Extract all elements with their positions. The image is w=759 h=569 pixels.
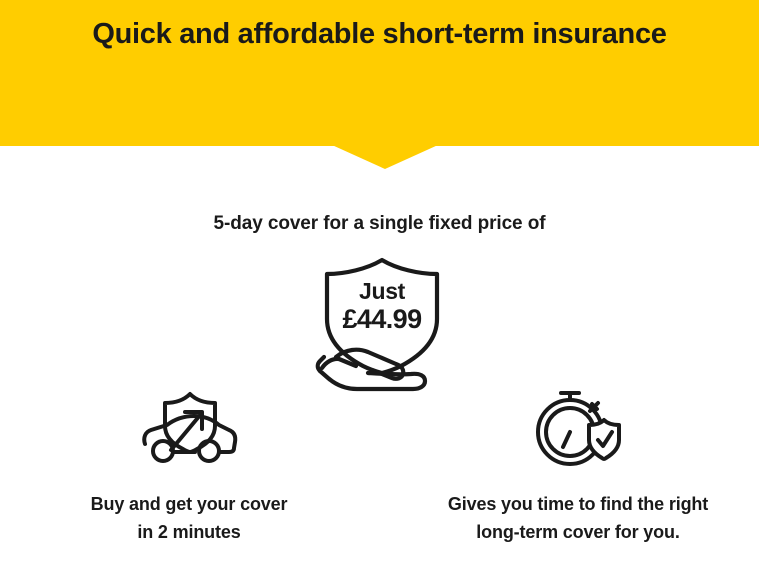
shield-in-hand-icon [312, 256, 452, 392]
benefit-caption: Buy and get your cover in 2 minutes [29, 490, 349, 546]
benefit-caption-line2: in 2 minutes [29, 518, 349, 546]
benefit-caption-line1: Buy and get your cover [29, 490, 349, 518]
benefit-buy-in-2-minutes: Buy and get your cover in 2 minutes [29, 386, 349, 546]
page-title: Temporary car insurance [0, 0, 759, 2]
hero-banner: Temporary car insurance Quick and afford… [0, 0, 759, 146]
hero-subtitle: Quick and affordable short-term insuranc… [0, 16, 759, 52]
benefit-caption-line2: long-term cover for you. [418, 518, 738, 546]
car-with-shield-and-up-arrow-icon [29, 386, 349, 468]
stopwatch-with-shield-check-icon [418, 386, 738, 468]
downward-triangle-notch-icon [332, 145, 438, 169]
benefit-long-term-cover: Gives you time to find the right long-te… [418, 386, 738, 546]
benefit-caption: Gives you time to find the right long-te… [418, 490, 738, 546]
benefit-caption-line1: Gives you time to find the right [418, 490, 738, 518]
price-lead-text: 5-day cover for a single fixed price of [0, 211, 759, 237]
